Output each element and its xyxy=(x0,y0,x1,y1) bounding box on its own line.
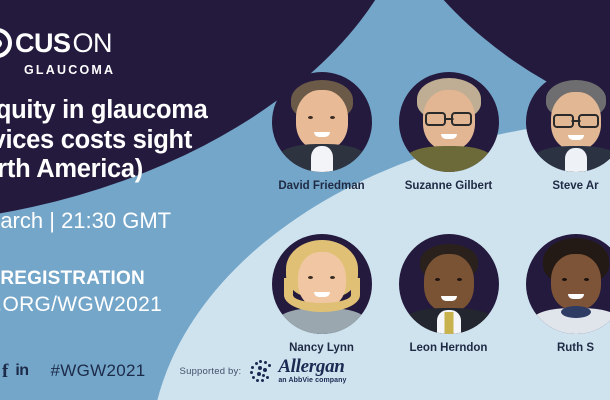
registration-url[interactable]: B.ORG/WGW2021 xyxy=(0,292,162,317)
speaker-card: Suzanne Gilbert xyxy=(397,72,500,192)
eye-icon xyxy=(0,28,12,58)
page-title: equity in glaucoma rvices costs sight or… xyxy=(0,96,272,185)
webinar-promo-poster: CUS ON GLAUCOMA equity in glaucoma rvice… xyxy=(0,0,610,400)
headline-line-2: rvices costs sight xyxy=(0,126,272,156)
speaker-card: Ruth S xyxy=(524,234,610,354)
avatar xyxy=(272,72,372,172)
avatar xyxy=(399,234,499,334)
headline-line-1: equity in glaucoma xyxy=(0,96,272,126)
speaker-row-2: Nancy Lynn xyxy=(270,234,610,354)
speaker-card: Leon Herndon xyxy=(397,234,500,354)
social-links: f in xyxy=(2,362,29,381)
speaker-grid: David Friedman Suz xyxy=(270,72,610,354)
logo-name-bold: CUS xyxy=(15,30,71,57)
avatar xyxy=(399,72,499,172)
facebook-icon[interactable]: f xyxy=(2,362,8,381)
logo-subtitle: GLAUCOMA xyxy=(24,63,115,77)
sponsor-name: Allergan xyxy=(278,357,346,377)
avatar xyxy=(526,72,610,172)
speaker-name: Suzanne Gilbert xyxy=(397,180,500,192)
avatar xyxy=(272,234,372,334)
sponsor-logo: Allergan an AbbVie company xyxy=(250,357,346,384)
speaker-card: David Friedman xyxy=(270,72,373,192)
hashtag-label: #WGW2021 xyxy=(51,361,146,381)
brand-logo: CUS ON GLAUCOMA xyxy=(0,28,115,77)
headline-line-3: orth America) xyxy=(0,155,272,185)
speaker-row-1: David Friedman Suz xyxy=(270,72,610,192)
registration-block: E REGISTRATION B.ORG/WGW2021 xyxy=(0,268,162,317)
avatar xyxy=(526,234,610,334)
linkedin-icon[interactable]: in xyxy=(15,363,28,379)
speaker-card: Steve Ar xyxy=(524,72,610,192)
speaker-card: Nancy Lynn xyxy=(270,234,373,354)
sponsor-tagline: an AbbVie company xyxy=(278,377,346,384)
event-datetime: March | 21:30 GMT xyxy=(0,208,171,234)
speaker-name: Steve Ar xyxy=(524,180,610,192)
supported-by-label: Supported by: xyxy=(180,366,242,377)
footer-bar: f in #WGW2021 Supported by: xyxy=(0,342,610,400)
registration-label: E REGISTRATION xyxy=(0,268,162,290)
allergan-dots-icon xyxy=(250,360,274,382)
logo-name-light: ON xyxy=(73,30,113,57)
speaker-name: David Friedman xyxy=(270,180,373,192)
